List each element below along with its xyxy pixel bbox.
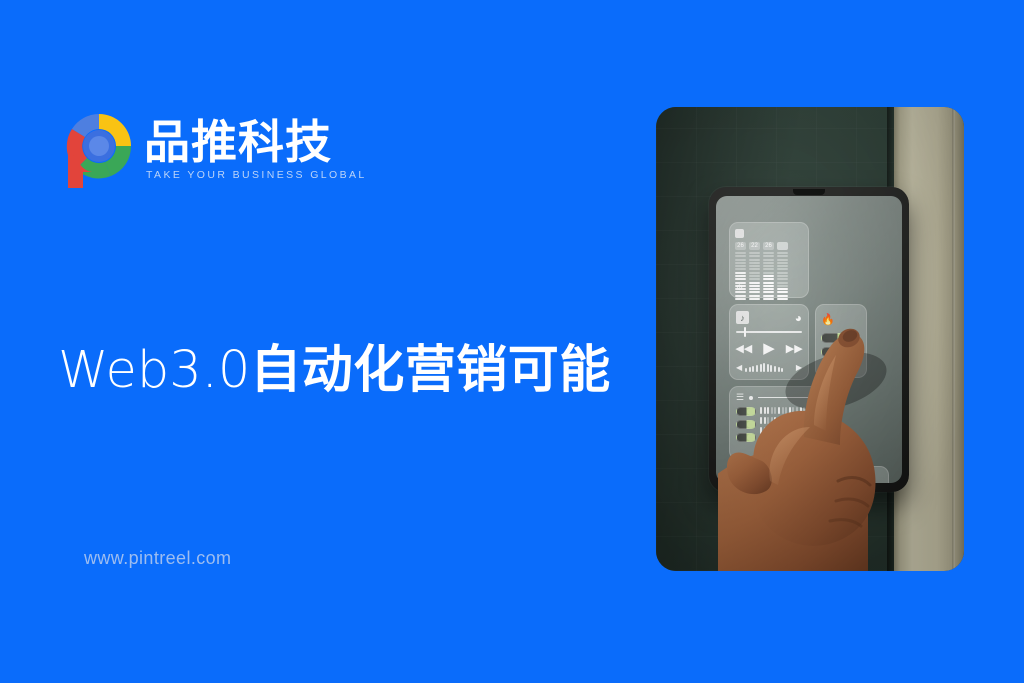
temperature-value: 26	[735, 242, 746, 250]
pintreel-circular-logo-icon	[62, 110, 136, 188]
brand-name: 品推科技	[144, 118, 367, 166]
headline-latin: Web3.0	[58, 341, 250, 400]
brand-logo: 品推科技 TAKE YOUR BUSINESS GLOBAL	[62, 110, 367, 188]
temperature-value: 22	[749, 242, 760, 250]
hero-photo: 26 22 26	[656, 107, 964, 571]
site-url[interactable]: www.pintreel.com	[84, 548, 231, 569]
page-title: Web3.0自动化营销可能	[58, 341, 611, 400]
camera-notch-icon	[793, 189, 825, 195]
thermostat-icon	[735, 229, 744, 238]
hand-touching-panel	[718, 285, 928, 571]
temperature-value: 26	[763, 242, 774, 250]
headline-cjk: 自动化营销可能	[250, 341, 611, 400]
brand-tagline: TAKE YOUR BUSINESS GLOBAL	[144, 169, 367, 181]
